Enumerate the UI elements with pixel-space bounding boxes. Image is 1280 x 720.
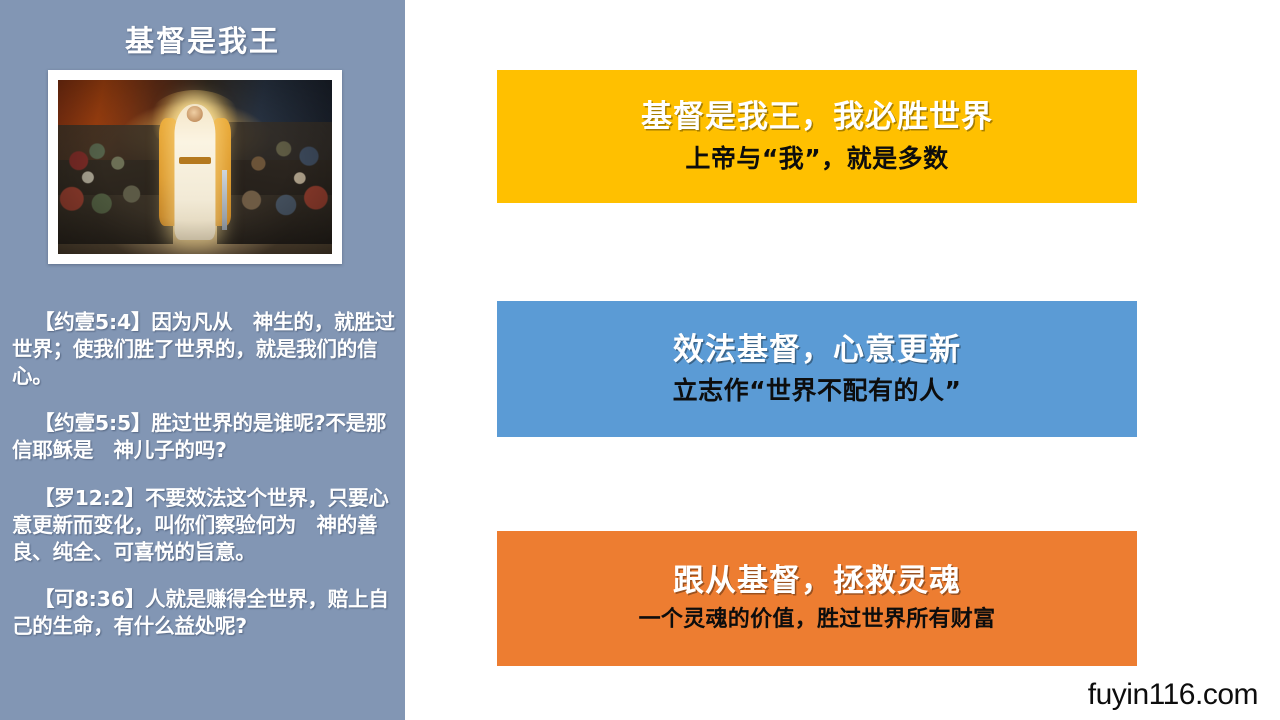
- scripture-verse: 【约壹5:4】因为凡从 神生的，就胜过世界；使我们胜了世界的，就是我们的信心。: [12, 309, 396, 390]
- card-title: 效法基督，心意更新: [673, 332, 961, 369]
- jesus-among-crowd-image: [58, 80, 332, 254]
- card-subtitle: 立志作“世界不配有的人”: [673, 376, 962, 406]
- card-subtitle: 一个灵魂的价值，胜过世界所有财富: [639, 607, 996, 633]
- card-title: 跟从基督，拯救灵魂: [673, 563, 961, 600]
- sidebar-panel: 基督是我王 【约壹5:4】因为凡从 神生的，就胜过世界；使我们胜了世界的，就是我…: [0, 0, 405, 720]
- scripture-verse: 【约壹5:5】胜过世界的是谁呢?不是那信耶稣是 神儿子的吗?: [12, 410, 396, 464]
- illustration-frame: [48, 70, 342, 264]
- point-card-souls: 跟从基督，拯救灵魂 一个灵魂的价值，胜过世界所有财富: [497, 531, 1137, 666]
- card-subtitle: 上帝与“我”，就是多数: [685, 144, 948, 174]
- site-watermark: fuyin116.com: [1088, 678, 1258, 712]
- point-card-renewal: 效法基督，心意更新 立志作“世界不配有的人”: [497, 301, 1137, 437]
- scripture-verse: 【可8:36】人就是赚得全世界，赔上自己的生命，有什么益处呢?: [12, 586, 396, 640]
- card-title: 基督是我王，我必胜世界: [641, 99, 993, 136]
- page-title: 基督是我王: [0, 26, 405, 58]
- painting-vignette: [58, 80, 332, 254]
- point-card-victory: 基督是我王，我必胜世界 上帝与“我”，就是多数: [497, 70, 1137, 203]
- scripture-list: 【约壹5:4】因为凡从 神生的，就胜过世界；使我们胜了世界的，就是我们的信心。 …: [12, 288, 396, 650]
- scripture-verse: 【罗12:2】不要效法这个世界，只要心意更新而变化，叫你们察验何为 神的善良、纯…: [12, 485, 396, 566]
